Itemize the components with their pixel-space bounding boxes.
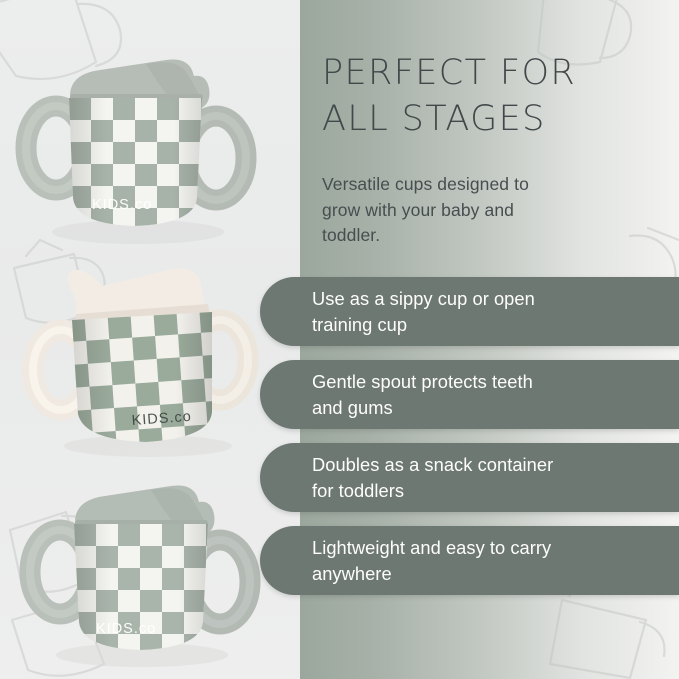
feature-2-line-1: Gentle spout protects teeth	[312, 369, 665, 395]
feature-4-line-2: anywhere	[312, 561, 665, 587]
feature-1-line-2: training cup	[312, 312, 665, 338]
feature-item-2: Gentle spout protects teeth and gums	[260, 360, 679, 429]
feature-2-line-2: and gums	[312, 395, 665, 421]
feature-3-line-2: for toddlers	[312, 478, 665, 504]
feature-item-4: Lightweight and easy to carry anywhere	[260, 526, 679, 595]
feature-item-1: Use as a sippy cup or open training cup	[260, 277, 679, 346]
feature-list: Use as a sippy cup or open training cup …	[0, 0, 679, 679]
feature-3-line-1: Doubles as a snack container	[312, 452, 665, 478]
feature-item-3: Doubles as a snack container for toddler…	[260, 443, 679, 512]
infographic-canvas: KIDS.co	[0, 0, 679, 679]
feature-1-line-1: Use as a sippy cup or open	[312, 286, 665, 312]
feature-4-line-1: Lightweight and easy to carry	[312, 535, 665, 561]
